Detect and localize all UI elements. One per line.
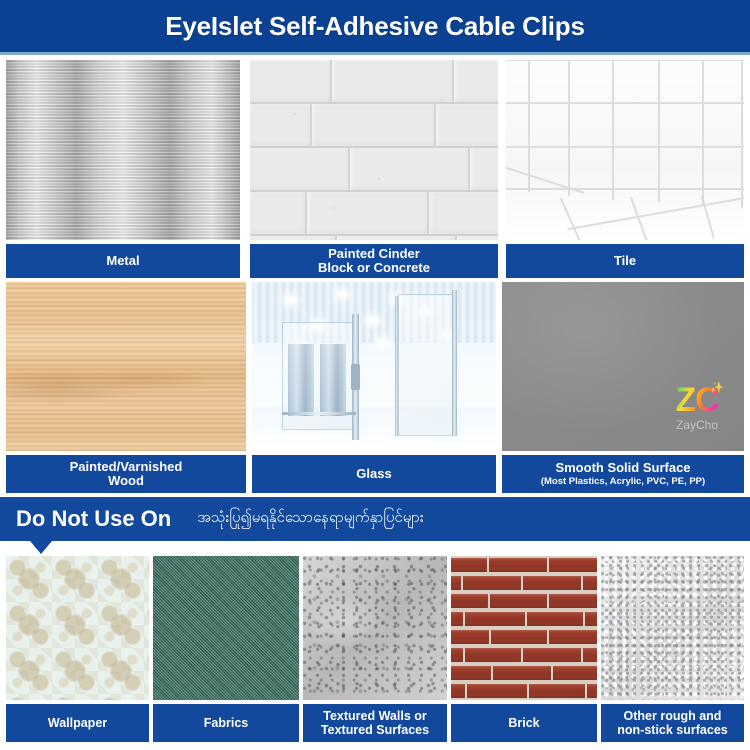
page-title: EyeIslet Self-Adhesive Cable Clips bbox=[165, 11, 584, 42]
surface-card-fabrics[interactable]: Fabrics bbox=[153, 556, 299, 742]
do-not-use-translation: အသုံးပြု၍မရနိုင်သောနေရာမျက်နှာပြင်များ bbox=[197, 508, 423, 530]
surface-label-other-line1: Other rough and bbox=[617, 709, 727, 723]
surface-caption-glass: Glass bbox=[252, 455, 496, 493]
do-not-use-banner: Do Not Use On အသုံးပြု၍မရနိုင်သောနေရာမျက… bbox=[0, 497, 750, 541]
tile-photo bbox=[506, 60, 744, 240]
prohibited-surfaces-grid: Wallpaper Fabrics Textured Walls or Text… bbox=[0, 556, 750, 746]
header-underline bbox=[0, 52, 750, 55]
do-not-use-title: Do Not Use On bbox=[16, 506, 171, 532]
surface-label-wallpaper: Wallpaper bbox=[48, 716, 107, 730]
page-header: EyeIslet Self-Adhesive Cable Clips bbox=[0, 0, 750, 52]
textured-wall-photo bbox=[303, 556, 447, 700]
surface-label-wood-line2: Wood bbox=[70, 474, 183, 488]
white-tile-texture bbox=[506, 60, 744, 240]
approved-surfaces-grid: Metal bbox=[0, 60, 750, 493]
glass-photo bbox=[252, 282, 496, 451]
surface-caption-cinder-block: Painted Cinder Block or Concrete bbox=[250, 244, 498, 278]
brick-photo bbox=[451, 556, 597, 700]
surface-card-smooth-solid[interactable]: ✨ ZC ZayCho Smooth Solid Surface (Most P… bbox=[502, 282, 744, 493]
surface-card-wood[interactable]: Painted/Varnished Wood bbox=[6, 282, 246, 493]
cinder-block-photo bbox=[250, 60, 498, 240]
white-stucco-texture bbox=[601, 556, 744, 700]
smooth-gray-solid-texture bbox=[502, 282, 744, 451]
surface-label-smooth-solid: Smooth Solid Surface bbox=[541, 461, 705, 475]
surface-caption-fabrics: Fabrics bbox=[153, 704, 299, 742]
surface-label-brick: Brick bbox=[508, 716, 539, 730]
surface-card-other-rough[interactable]: Other rough and non-stick surfaces bbox=[601, 556, 744, 742]
approved-surfaces-row-1: Metal bbox=[0, 60, 750, 278]
surface-label-cinder-line2: Block or Concrete bbox=[318, 261, 430, 275]
surface-caption-tile: Tile bbox=[506, 244, 744, 278]
rough-concrete-texture bbox=[303, 556, 447, 700]
surface-caption-smooth-solid: Smooth Solid Surface (Most Plastics, Acr… bbox=[502, 455, 744, 493]
surface-card-brick[interactable]: Brick bbox=[451, 556, 597, 742]
red-brick-texture bbox=[451, 556, 597, 700]
surface-label-fabrics: Fabrics bbox=[204, 716, 248, 730]
surface-caption-brick: Brick bbox=[451, 704, 597, 742]
wood-grain-texture bbox=[6, 282, 246, 451]
surface-label-cinder-line1: Painted Cinder bbox=[318, 247, 430, 261]
surface-card-tile[interactable]: Tile bbox=[506, 60, 744, 278]
surface-caption-other-rough: Other rough and non-stick surfaces bbox=[601, 704, 744, 742]
surface-label-metal: Metal bbox=[106, 254, 139, 268]
surface-card-metal[interactable]: Metal bbox=[6, 60, 240, 278]
other-rough-photo bbox=[601, 556, 744, 700]
surface-label-textured-line1: Textured Walls or bbox=[321, 709, 429, 723]
wood-photo bbox=[6, 282, 246, 451]
damask-wallpaper-texture bbox=[6, 556, 149, 700]
surface-label-glass: Glass bbox=[356, 467, 391, 481]
surface-label-wood-line1: Painted/Varnished bbox=[70, 460, 183, 474]
smooth-solid-photo: ✨ ZC ZayCho bbox=[502, 282, 744, 451]
cinder-block-texture bbox=[250, 60, 498, 240]
surface-sublabel-smooth-solid: (Most Plastics, Acrylic, PVC, PE, PP) bbox=[541, 476, 705, 487]
green-twill-fabric-texture bbox=[153, 556, 299, 700]
surface-card-glass[interactable]: Glass bbox=[252, 282, 496, 493]
metal-photo bbox=[6, 60, 240, 240]
surface-card-textured-walls[interactable]: Textured Walls or Textured Surfaces bbox=[303, 556, 447, 742]
surface-label-textured-line2: Textured Surfaces bbox=[321, 723, 429, 737]
surface-caption-metal: Metal bbox=[6, 244, 240, 278]
glass-partition-texture bbox=[252, 282, 496, 451]
surface-caption-wallpaper: Wallpaper bbox=[6, 704, 149, 742]
surface-caption-wood: Painted/Varnished Wood bbox=[6, 455, 246, 493]
brushed-metal-texture bbox=[6, 60, 240, 240]
surface-caption-textured-walls: Textured Walls or Textured Surfaces bbox=[303, 704, 447, 742]
approved-surfaces-row-2: Painted/Varnished Wood bbox=[0, 282, 750, 493]
fabrics-photo bbox=[153, 556, 299, 700]
wallpaper-photo bbox=[6, 556, 149, 700]
surface-label-other-line2: non-stick surfaces bbox=[617, 723, 727, 737]
surface-label-tile: Tile bbox=[614, 254, 636, 268]
surface-card-wallpaper[interactable]: Wallpaper bbox=[6, 556, 149, 742]
banner-pointer-icon bbox=[30, 541, 52, 554]
surface-card-cinder-block[interactable]: Painted Cinder Block or Concrete bbox=[250, 60, 498, 278]
infographic-page: EyeIslet Self-Adhesive Cable Clips Metal bbox=[0, 0, 750, 750]
